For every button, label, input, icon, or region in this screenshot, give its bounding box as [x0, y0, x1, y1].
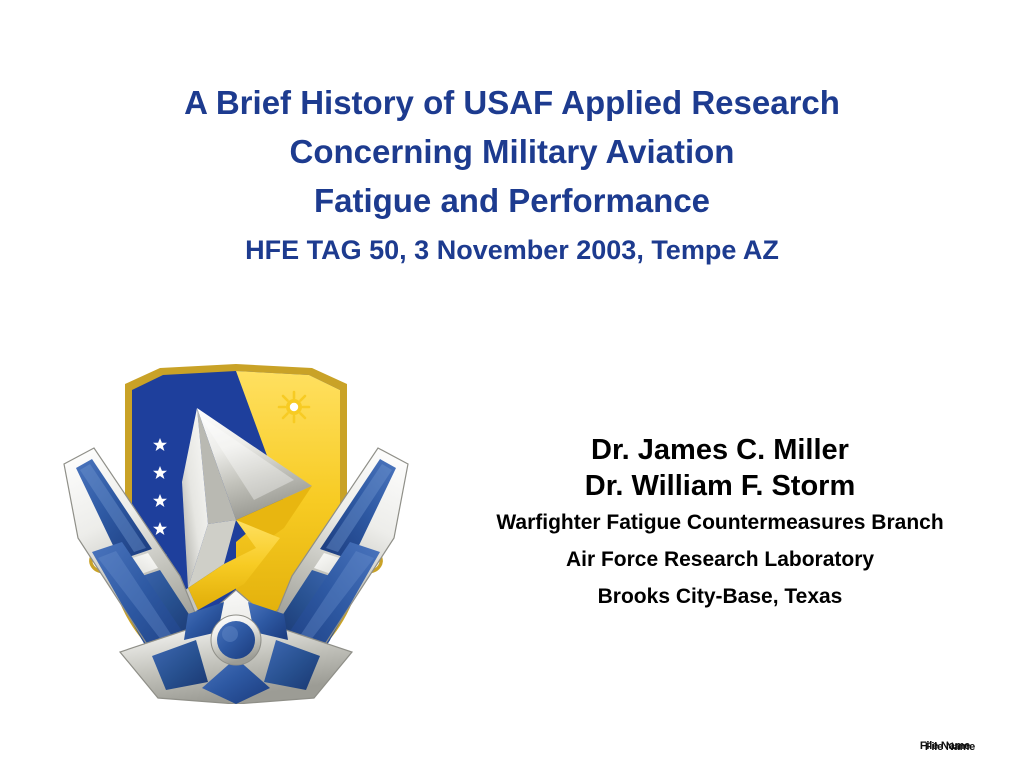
- footer: File Name File Name: [880, 740, 1010, 760]
- author-name-1: Dr. James C. Miller: [420, 432, 1020, 468]
- file-name-placeholder-overlay: File Name: [885, 741, 1015, 753]
- usaf-afrl-logo: AIR FORCE RESEARCH LABORATORY: [48, 352, 424, 704]
- subtitle: HFE TAG 50, 3 November 2003, Tempe AZ: [62, 225, 962, 275]
- affiliation-location: Brooks City-Base, Texas: [420, 578, 1020, 615]
- affiliation-branch: Warfighter Fatigue Countermeasures Branc…: [420, 504, 1020, 541]
- sunburst-icon: [279, 392, 309, 422]
- author-block: Dr. James C. Miller Dr. William F. Storm…: [420, 432, 1020, 615]
- author-name-2: Dr. William F. Storm: [420, 468, 1020, 504]
- title-slide: A Brief History of USAF Applied Research…: [0, 0, 1024, 768]
- title-line-1: A Brief History of USAF Applied Research: [62, 78, 962, 127]
- affiliation-lab: Air Force Research Laboratory: [420, 541, 1020, 578]
- title-line-2: Concerning Military Aviation: [62, 127, 962, 176]
- title-line-3: Fatigue and Performance: [62, 176, 962, 225]
- page-title: A Brief History of USAF Applied Research…: [62, 78, 962, 275]
